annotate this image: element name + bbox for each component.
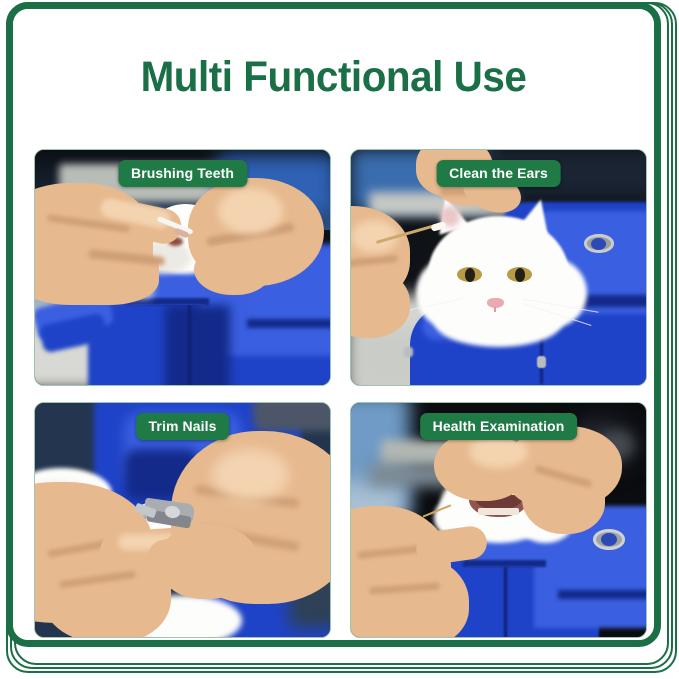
page-title: Multi Functional Use: [32, 53, 635, 102]
panel-badge-clean-the-ears: Clean the Ears: [436, 160, 561, 187]
feature-panel-trim-nails[interactable]: Trim Nails: [34, 402, 331, 639]
panel-badge-trim-nails: Trim Nails: [136, 413, 230, 440]
infographic-poster: Multi Functional Use: [0, 0, 679, 679]
poster-frame: Multi Functional Use: [6, 2, 661, 647]
feature-grid: Brushing Teeth: [34, 149, 647, 638]
panel-badge-brushing-teeth: Brushing Teeth: [118, 160, 247, 187]
poster-card: Multi Functional Use: [13, 9, 654, 640]
feature-panel-brushing-teeth[interactable]: Brushing Teeth: [34, 149, 331, 386]
feature-panel-health-examination[interactable]: Health Examination: [350, 402, 647, 639]
panel-badge-health-examination: Health Examination: [420, 413, 578, 440]
feature-panel-clean-ears[interactable]: Clean the Ears: [350, 149, 647, 386]
